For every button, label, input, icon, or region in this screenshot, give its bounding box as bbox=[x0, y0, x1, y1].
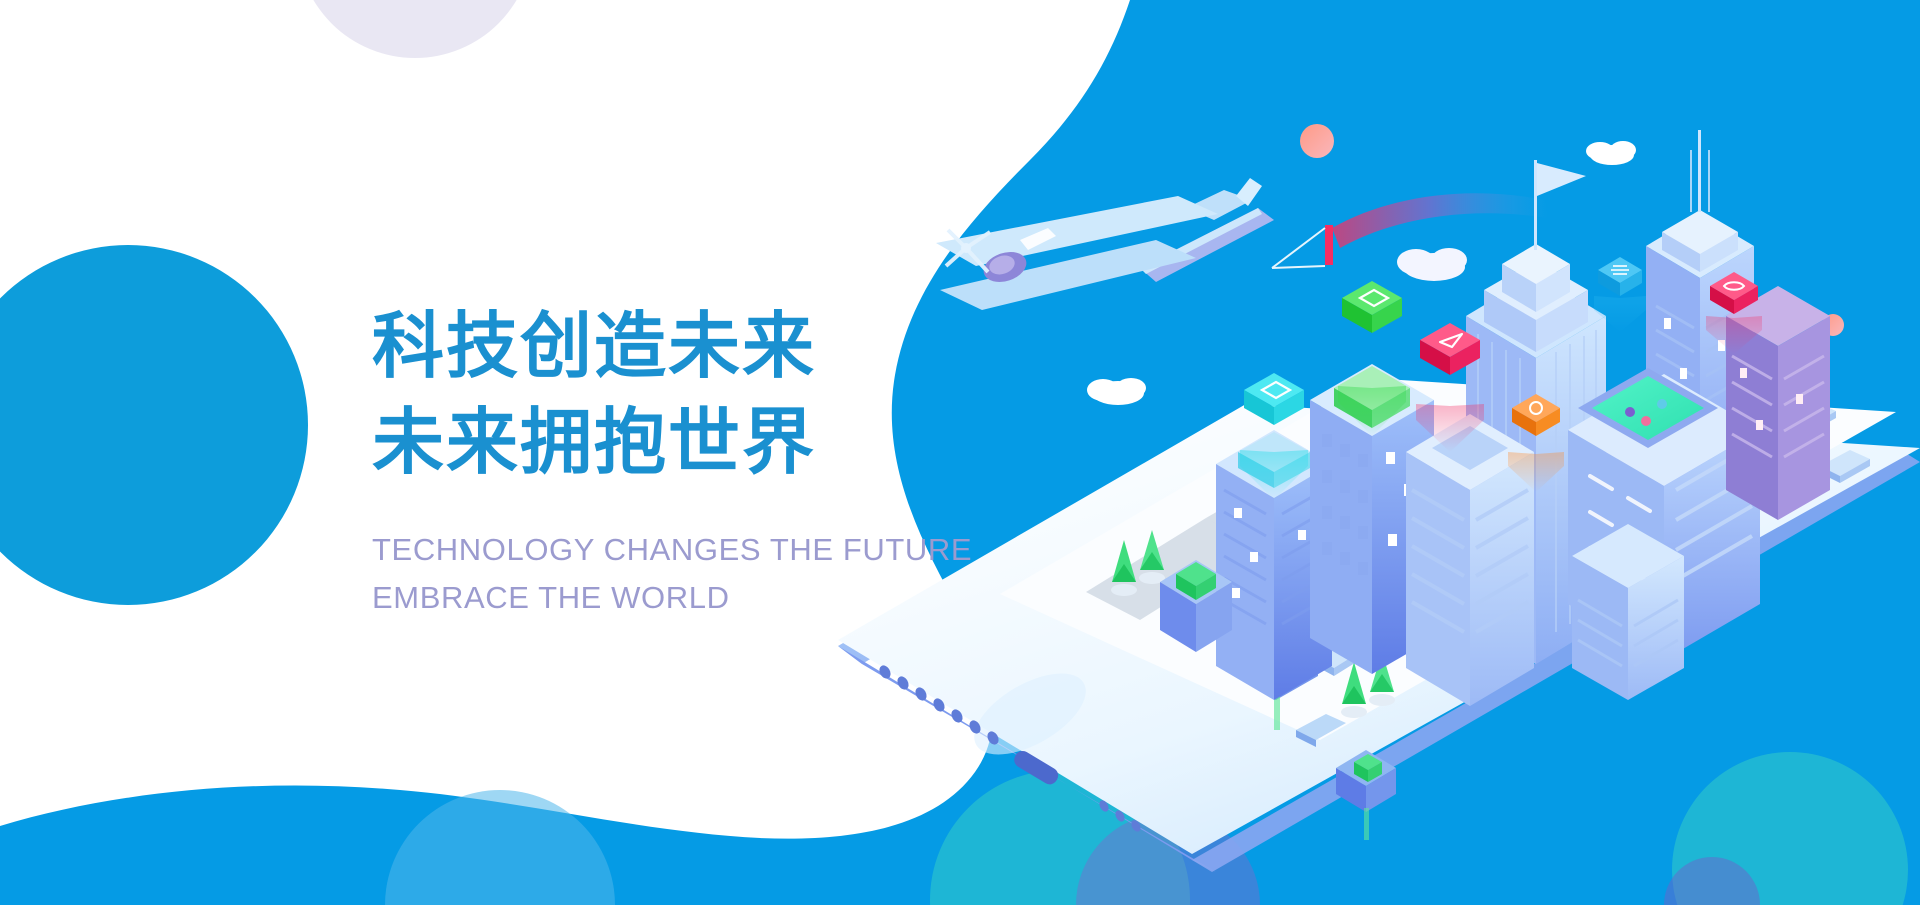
cloud-icon-1 bbox=[1087, 378, 1146, 405]
airplane-icon bbox=[936, 178, 1274, 310]
ground-marker-2 bbox=[1336, 750, 1396, 840]
cloud-icon-3 bbox=[1586, 141, 1636, 165]
banner-lines bbox=[1272, 228, 1325, 268]
subtitle-line-1: TECHNOLOGY CHANGES THE FUTURE bbox=[372, 526, 1032, 574]
banner-ribbon bbox=[1332, 193, 1548, 248]
pink-sphere-large bbox=[1300, 124, 1334, 158]
headline: 科技创造未来 未来拥抱世界 bbox=[372, 300, 1032, 492]
subtitle: TECHNOLOGY CHANGES THE FUTURE EMBRACE TH… bbox=[372, 526, 1032, 622]
banner-flag bbox=[1325, 225, 1333, 265]
rooftop-flag bbox=[1537, 163, 1586, 196]
subtitle-line-2: EMBRACE THE WORLD bbox=[372, 574, 1032, 622]
hero-banner: 科技创造未来 未来拥抱世界 TECHNOLOGY CHANGES THE FUT… bbox=[0, 0, 1920, 905]
hero-text-block: 科技创造未来 未来拥抱世界 TECHNOLOGY CHANGES THE FUT… bbox=[372, 300, 1032, 622]
tower-right-short bbox=[1572, 524, 1684, 700]
headline-line-2: 未来拥抱世界 bbox=[372, 396, 1032, 492]
cloud-icon-2 bbox=[1397, 248, 1467, 281]
headline-line-1: 科技创造未来 bbox=[372, 300, 1032, 396]
